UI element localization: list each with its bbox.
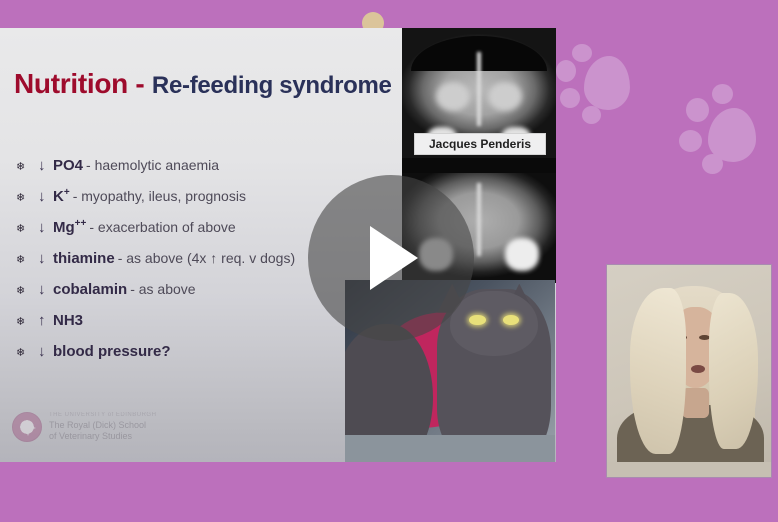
bullet-term: Mg++ — [53, 218, 86, 236]
paw-print-icon: ❄ — [16, 255, 38, 266]
presenter-video-overlay[interactable] — [606, 264, 772, 478]
play-triangle-icon — [370, 226, 418, 290]
bullet-arrow-icon: ↓ — [38, 188, 53, 205]
paw-print-icon: ❄ — [16, 317, 38, 328]
slide-title-separator: - — [128, 68, 152, 99]
university-logo-text: THE UNIVERSITY of EDINBURGH The Royal (D… — [49, 412, 156, 442]
bullet-term: K+ — [53, 187, 70, 205]
list-item: ❄ ↓ thiamine - as above (4x ↑ req. v dog… — [16, 249, 356, 280]
slide-title: Nutrition - Re-feeding syndrome — [14, 68, 392, 100]
list-item: ❄ ↓ K+ - myopathy, ileus, prognosis — [16, 187, 356, 218]
bullet-arrow-icon: ↑ — [38, 312, 53, 329]
bullet-term: PO4 — [53, 156, 83, 174]
bullet-term: thiamine — [53, 249, 115, 267]
logo-line-school: The Royal (Dick) School — [49, 420, 156, 431]
decorative-paw-print-icon-2 — [678, 102, 756, 196]
bullet-term: blood pressure? — [53, 342, 171, 360]
list-item: ❄ ↓ cobalamin - as above — [16, 280, 356, 311]
bullet-arrow-icon: ↓ — [38, 219, 53, 236]
paw-print-icon: ❄ — [16, 162, 38, 173]
paw-print-icon: ❄ — [16, 224, 38, 235]
bullet-description: - myopathy, ileus, prognosis — [73, 188, 246, 204]
paw-print-icon: ❄ — [16, 286, 38, 297]
bullet-description: - as above (4x ↑ req. v dogs) — [118, 250, 295, 266]
paw-print-icon: ❄ — [16, 193, 38, 204]
bullet-arrow-icon: ↓ — [38, 343, 53, 360]
list-item: ❄ ↑ NH3 — [16, 311, 356, 342]
logo-line-university: THE UNIVERSITY of EDINBURGH — [49, 412, 156, 420]
slide-title-main: Nutrition — [14, 68, 128, 99]
list-item: ❄ ↓ Mg++ - exacerbation of above — [16, 218, 356, 249]
bullet-arrow-icon: ↓ — [38, 250, 53, 267]
image-credit-label: Jacques Penderis — [414, 133, 546, 155]
edinburgh-crest-icon — [12, 412, 42, 442]
bullet-arrow-icon: ↓ — [38, 157, 53, 174]
decorative-paw-print-icon-1 — [560, 44, 636, 136]
bullet-term: cobalamin — [53, 280, 127, 298]
list-item: ❄ ↓ blood pressure? — [16, 342, 356, 373]
bullet-arrow-icon: ↓ — [38, 281, 53, 298]
bullet-description: - exacerbation of above — [89, 219, 235, 235]
bullet-term: NH3 — [53, 311, 83, 329]
logo-line-department: of Veterinary Studies — [49, 431, 156, 442]
video-player-stage: Nutrition - Re-feeding syndrome ❄ ↓ PO4 … — [0, 0, 778, 522]
play-button[interactable] — [308, 175, 474, 341]
bullet-description: - haemolytic anaemia — [86, 157, 219, 173]
list-item: ❄ ↓ PO4 - haemolytic anaemia — [16, 156, 356, 187]
university-logo: THE UNIVERSITY of EDINBURGH The Royal (D… — [12, 412, 156, 442]
bullet-description: - as above — [130, 281, 195, 297]
slide-bullet-list: ❄ ↓ PO4 - haemolytic anaemia ❄ ↓ K+ - my… — [16, 156, 356, 373]
paw-print-icon: ❄ — [16, 348, 38, 359]
slide-title-sub: Re-feeding syndrome — [152, 72, 392, 99]
